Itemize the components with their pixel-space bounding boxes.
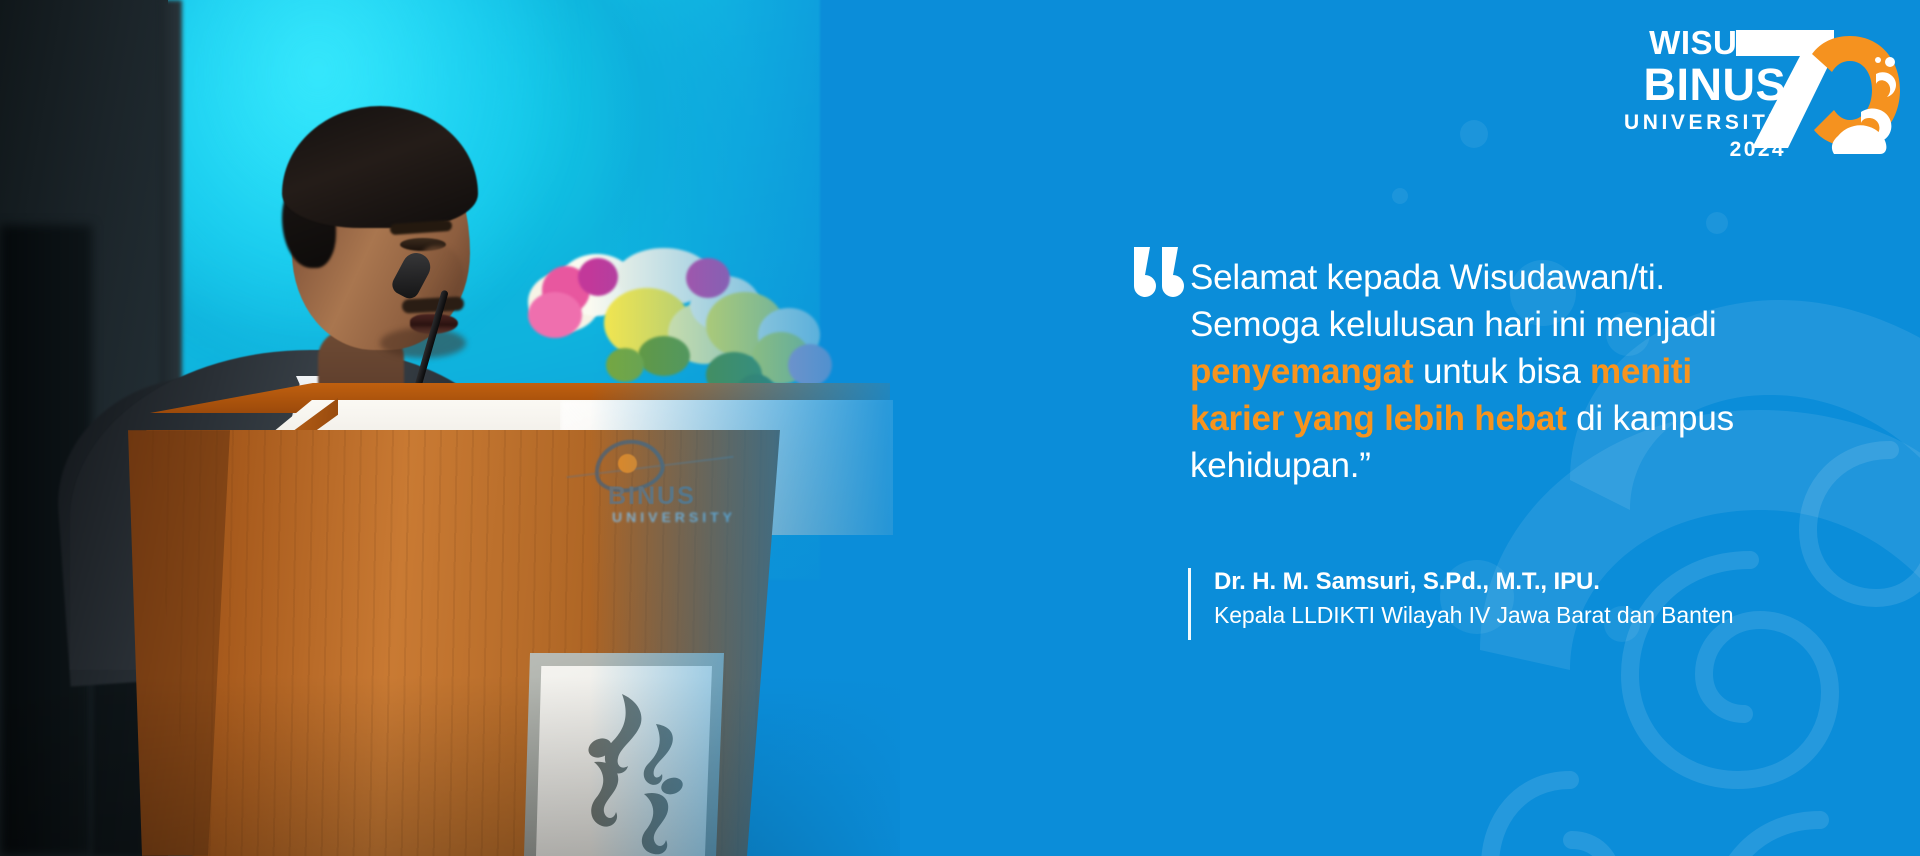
quote-panel: WISUDA BINUS UNIVERSITY 2024: [900, 0, 1920, 856]
quote-open-icon: [1132, 245, 1192, 305]
graduation-quote-banner: BINUS UNIVERSITY: [0, 0, 1920, 856]
attribution-divider: [1188, 568, 1191, 640]
quote-text: Selamat kepada Wisudawan/ti. Semoga kelu…: [1190, 255, 1750, 489]
quote-block: Selamat kepada Wisudawan/ti. Semoga kelu…: [900, 0, 1920, 856]
attribution-name: Dr. H. M. Samsuri, S.Pd., M.T., IPU.: [1214, 566, 1814, 597]
moustache: [402, 296, 465, 313]
attribution-block: Dr. H. M. Samsuri, S.Pd., M.T., IPU. Kep…: [1188, 566, 1814, 631]
attribution-role: Kepala LLDIKTI Wilayah IV Jawa Barat dan…: [1214, 600, 1814, 631]
speaker-photo: BINUS UNIVERSITY: [0, 0, 1010, 856]
hair: [282, 106, 478, 228]
